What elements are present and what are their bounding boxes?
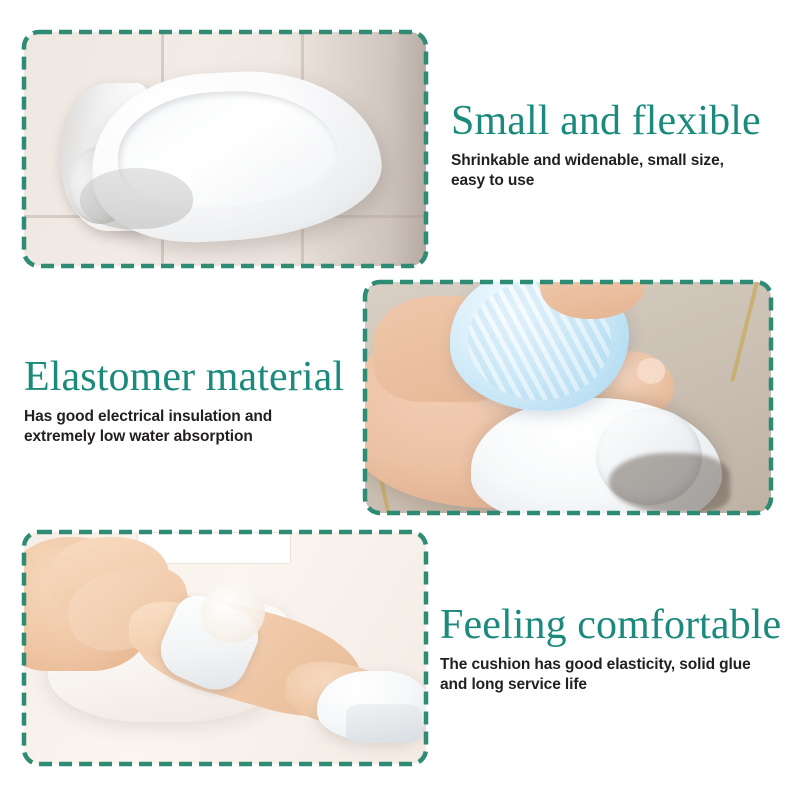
feature-description-line: easy to use xyxy=(451,171,791,192)
feature-text-feeling-comfortable: Feeling comfortable The cushion has good… xyxy=(440,604,790,696)
toenail xyxy=(637,358,665,383)
feature-title: Feeling comfortable xyxy=(440,604,790,648)
photo-artwork-shaving-leg xyxy=(24,532,426,764)
foot-rest-base xyxy=(346,704,422,743)
feature-photo-elastomer-material xyxy=(365,282,771,513)
feature-text-small-and-flexible: Small and flexible Shrinkable and widena… xyxy=(451,100,791,192)
feature-description-line: Has good electrical insulation and xyxy=(24,407,364,428)
feature-photo-small-and-flexible xyxy=(24,32,426,266)
feature-description-line: Shrinkable and widenable, small size, xyxy=(451,151,791,172)
feature-title: Elastomer material xyxy=(24,356,364,400)
infographic-page: Small and flexible Shrinkable and widena… xyxy=(0,0,800,800)
photo-artwork-wall-mounted-step xyxy=(24,32,426,266)
feature-description: The cushion has good elasticity, solid g… xyxy=(440,655,790,696)
foot-rest-underside xyxy=(80,168,193,229)
feature-description: Has good electrical insulation and extre… xyxy=(24,407,364,448)
photo-artwork-foot-on-step xyxy=(365,282,771,513)
feature-description-line: The cushion has good elasticity, solid g… xyxy=(440,655,790,676)
feature-description-line: extremely low water absorption xyxy=(24,427,364,448)
feature-photo-feeling-comfortable xyxy=(24,532,426,764)
feature-text-elastomer-material: Elastomer material Has good electrical i… xyxy=(24,356,364,448)
feature-title: Small and flexible xyxy=(451,100,791,144)
feature-description-line: and long service life xyxy=(440,675,790,696)
feature-description: Shrinkable and widenable, small size, ea… xyxy=(451,151,791,192)
